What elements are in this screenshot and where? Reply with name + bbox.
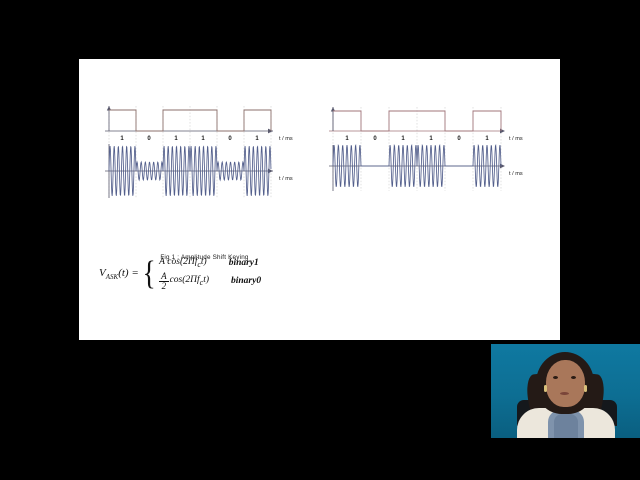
svg-text:t / ms: t / ms [279,136,293,142]
svg-text:1: 1 [429,136,433,142]
svg-text:1: 1 [485,136,489,142]
svg-text:t / ms: t / ms [279,176,293,182]
mouth [560,392,569,395]
figure-ask: 1 0 1 1 0 1 t / ms t / ms Fig 1 : Amplit… [97,102,297,202]
ask-waveform-svg: 1 0 1 1 0 1 t / ms t / ms [97,102,297,202]
formula-equals: = [131,267,138,279]
presenter-video-overlay[interactable] [491,344,640,438]
case2-cos: cos(2Πf [170,275,200,285]
svg-text:t / ms: t / ms [509,171,523,177]
figure-ook-caption: Fig 2 : On-Off Keying(OOK) [554,255,560,262]
svg-text:t / ms: t / ms [509,136,523,142]
case2-denominator: 2 [160,282,169,291]
svg-text:0: 0 [373,136,377,142]
eye-right [571,376,576,379]
presenter-face [546,360,585,407]
presenter-kurta-inner [554,414,578,438]
formula-case-binary0: A 2 cos(2Πfct) binary0 [159,272,261,291]
svg-text:0: 0 [228,136,232,142]
svg-text:1: 1 [201,136,205,142]
formula-lhs-subscript: ASK [106,273,118,281]
formula-lhs-arg: (t) [118,267,128,279]
earring-right [584,385,587,392]
svg-text:0: 0 [147,136,151,142]
formula-lhs-symbol: V [99,267,106,279]
case1-cos: cos(2Πf [167,257,197,267]
svg-text:1: 1 [255,136,259,142]
svg-text:0: 0 [457,136,461,142]
formula-lhs: VASK(t) = [99,267,141,281]
svg-text:1: 1 [120,136,124,142]
formula-case-binary1: A cos(2Πfct) binary1 [159,257,261,269]
case2-fraction: A 2 [159,272,169,291]
svg-text:1: 1 [345,136,349,142]
earring-left [544,385,547,392]
case2-label: binary0 [209,276,261,286]
svg-text:1: 1 [401,136,405,142]
case1-amplitude: A [159,257,165,267]
formula-cases: A cos(2Πfct) binary1 A 2 cos(2Πfct) bina… [157,257,261,291]
figure-ook: 1 0 1 1 0 1 t / ms t / ms Fig 2 : On-Off… [319,103,524,195]
ask-formula: VASK(t) = { A cos(2Πfct) binary1 A 2 [99,249,359,299]
presentation-slide: 1 0 1 1 0 1 t / ms t / ms Fig 1 : Amplit… [79,59,560,340]
eye-left [553,376,558,379]
formula-brace: { [142,260,155,289]
case1-label: binary1 [207,258,259,268]
screen-root: 1 0 1 1 0 1 t / ms t / ms Fig 1 : Amplit… [0,0,640,480]
ook-waveform-svg: 1 0 1 1 0 1 t / ms t / ms [319,103,524,195]
svg-text:1: 1 [174,136,178,142]
